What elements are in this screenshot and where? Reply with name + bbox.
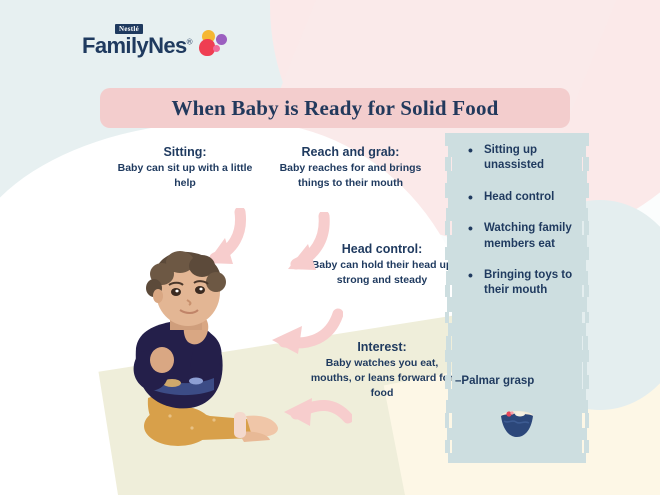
logo-purple-dot bbox=[216, 34, 227, 45]
brand-logo: Nestlé FamilyNes® bbox=[82, 24, 228, 57]
familynes-name: FamilyNes bbox=[82, 33, 187, 58]
sign-block-sitting: Sitting: Baby can sit up with a little h… bbox=[110, 144, 260, 191]
sign-heading: Reach and grab: bbox=[268, 144, 433, 161]
checklist-footnote: –Palmar grasp bbox=[455, 375, 534, 387]
panel-torn-edge-right bbox=[582, 133, 589, 463]
sign-body: Baby can sit up with a little help bbox=[110, 161, 260, 191]
page-title: When Baby is Ready for Solid Food bbox=[171, 96, 498, 121]
registered-mark: ® bbox=[187, 38, 192, 47]
logo-pink-dot bbox=[213, 45, 220, 52]
familynes-wordmark: FamilyNes® bbox=[82, 35, 192, 57]
panel-background: Sitting up unassisted Head control Watch… bbox=[452, 133, 582, 463]
checklist-items: Sitting up unassisted Head control Watch… bbox=[468, 143, 574, 315]
sign-body: Baby reaches for and brings things to th… bbox=[268, 161, 433, 191]
familynes-logo-icon bbox=[198, 30, 228, 56]
infographic-canvas: Nestlé FamilyNes® When Baby is Ready for… bbox=[0, 0, 660, 495]
sign-block-reach-and-grab: Reach and grab: Baby reaches for and bri… bbox=[268, 144, 433, 191]
list-item: Watching family members eat bbox=[468, 221, 574, 252]
panel-torn-edge-left bbox=[445, 133, 452, 463]
list-item: Head control bbox=[468, 190, 574, 205]
sign-heading: Sitting: bbox=[110, 144, 260, 161]
title-banner: When Baby is Ready for Solid Food bbox=[100, 88, 570, 128]
list-item: Sitting up unassisted bbox=[468, 143, 574, 174]
baby-sitting-photo bbox=[118, 248, 293, 448]
list-item: Bringing toys to their mouth bbox=[468, 268, 574, 299]
cereal-bowl-icon bbox=[496, 405, 538, 439]
readiness-checklist-panel: Sitting up unassisted Head control Watch… bbox=[452, 133, 582, 463]
